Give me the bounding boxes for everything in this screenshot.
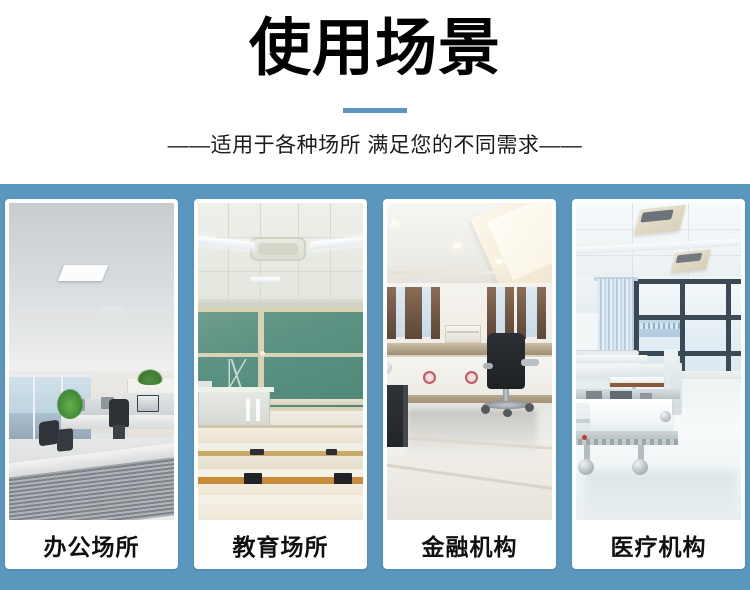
hospital-ceiling-grid — [632, 203, 633, 281]
bank-interior-photo — [387, 203, 552, 520]
bank-chair-caster — [525, 403, 534, 412]
bank-chair-armrest — [483, 363, 493, 369]
office-plant-icon — [57, 389, 83, 419]
classroom-desk-rail — [270, 399, 363, 405]
page-title: 使用场景 — [0, 16, 750, 82]
bank-back-desk — [445, 325, 481, 343]
hospital-bed-side-rail-bar — [576, 419, 590, 423]
classroom-interior-photo — [198, 203, 363, 520]
classroom-desk-row-edge — [198, 425, 363, 428]
scenario-label-finance: 金融机构 — [387, 520, 552, 569]
office-chair-icon — [39, 420, 59, 447]
hospital-window-frame — [634, 351, 741, 356]
bank-counter-medallion-icon — [423, 371, 436, 384]
classroom-chalkboard-frame — [198, 353, 363, 357]
bank-curtain — [431, 287, 440, 339]
bank-cabinet-edge — [403, 385, 408, 447]
hospital-window-frame — [680, 279, 685, 375]
hospital-ward-photo — [576, 203, 741, 520]
office-monitor-icon — [137, 395, 159, 412]
classroom-podium-panel — [256, 399, 260, 421]
bank-downlight-icon — [453, 243, 462, 248]
bank-curtain — [505, 287, 514, 339]
classroom-air-vent-inner — [258, 243, 298, 255]
hospital-overbed-table-edge — [610, 383, 664, 387]
classroom-fluorescent-tube-icon — [250, 277, 280, 282]
classroom-chalk-writing — [216, 359, 258, 387]
bank-curtain — [537, 287, 546, 339]
hospital-bed-caster — [660, 411, 671, 422]
office-plant-icon — [137, 369, 163, 385]
office-chair-icon — [109, 399, 129, 427]
bank-chair-armrest — [521, 359, 539, 366]
classroom-ceiling-grid — [228, 203, 229, 303]
bank-curtain — [413, 287, 422, 339]
bank-chair-caster — [503, 409, 512, 417]
scenario-label-education: 教育场所 — [198, 520, 363, 569]
usage-scenarios-page: 使用场景 ——适用于各种场所 满足您的不同需求—— — [0, 0, 750, 590]
classroom-desk-item — [334, 473, 352, 484]
bank-chair-base — [483, 401, 531, 409]
classroom-desk-row-edge — [198, 451, 363, 456]
classroom-ceiling-grid — [198, 271, 363, 272]
office-interior-photo — [9, 203, 174, 520]
hospital-bed-caster — [632, 459, 648, 475]
office-panel-light-secondary-icon — [100, 307, 126, 313]
classroom-desk-item — [250, 449, 264, 455]
hospital-bed-control-knob-icon — [582, 435, 587, 440]
office-ceiling — [9, 203, 174, 378]
scenarios-band: 办公场所 — [0, 184, 750, 590]
hospital-outside-building-windows — [640, 323, 682, 329]
bank-downlight-icon — [495, 259, 503, 264]
scenario-label-medical: 医疗机构 — [576, 520, 741, 569]
classroom-ceiling-grid — [330, 203, 331, 303]
hospital-bed-caster — [578, 459, 594, 475]
classroom-board-knob — [260, 351, 265, 356]
bank-counter-medallion-icon — [465, 371, 478, 384]
page-subtitle: ——适用于各种场所 满足您的不同需求—— — [0, 132, 750, 160]
hospital-floor-reflection — [586, 471, 736, 519]
hospital-window-frame — [634, 279, 741, 284]
scenario-card-finance[interactable]: 金融机构 — [383, 199, 556, 569]
scenario-card-list: 办公场所 — [5, 199, 745, 569]
classroom-desk-item — [244, 473, 262, 484]
office-chair-icon — [57, 428, 73, 452]
scenario-card-education[interactable]: 教育场所 — [194, 199, 367, 569]
classroom-chalkboard-frame — [198, 307, 363, 312]
hospital-bed-base-stripe — [576, 439, 678, 445]
hospital-ceiling-grid — [576, 255, 741, 256]
bank-curtain — [387, 287, 396, 339]
office-panel-light-icon — [58, 265, 108, 281]
scenario-card-medical[interactable]: 医疗机构 — [572, 199, 745, 569]
scenario-label-office: 办公场所 — [9, 520, 174, 569]
bank-curtain — [487, 287, 496, 339]
hospital-bed-mechanism — [586, 391, 602, 399]
hospital-bed-mattress — [576, 399, 672, 433]
title-divider — [343, 108, 407, 113]
bank-curtain — [517, 287, 526, 339]
bank-floor-reflection — [407, 409, 537, 459]
hospital-bed-far — [576, 355, 648, 363]
bank-ceiling-trim — [387, 271, 507, 274]
bank-back-desk-line — [447, 331, 479, 333]
bank-chair-caster — [481, 405, 490, 414]
hospital-window-frame — [634, 315, 741, 320]
scenario-card-office[interactable]: 办公场所 — [5, 199, 178, 569]
page-header: 使用场景 ——适用于各种场所 满足您的不同需求—— — [0, 0, 750, 184]
bank-downlight-icon — [391, 221, 399, 226]
classroom-desk-row — [198, 495, 363, 520]
hospital-bed-mechanism — [610, 391, 632, 399]
hospital-window-frame — [726, 279, 731, 375]
bank-office-chair-icon — [487, 333, 525, 389]
classroom-podium-panel — [246, 399, 250, 421]
classroom-podium-top — [198, 387, 274, 392]
classroom-desk-item — [326, 449, 337, 455]
